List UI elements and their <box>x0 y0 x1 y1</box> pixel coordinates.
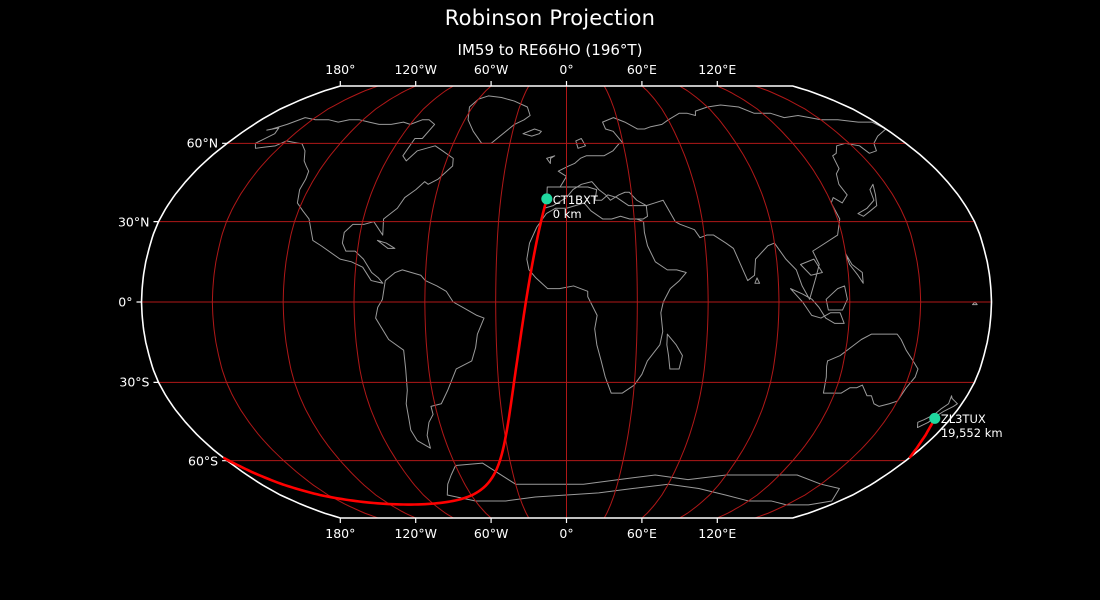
station-label-0: CT1BXT 0 km <box>553 193 598 221</box>
lat-tick-label-3: 30°S <box>119 375 149 390</box>
lon-tick-label-bottom-3: 0° <box>559 526 573 541</box>
station-callsign-1: ZL3TUX <box>941 412 986 426</box>
lon-tick-label-bottom-4: 60°E <box>627 526 657 541</box>
lon-tick-label-bottom-2: 60°W <box>474 526 509 541</box>
map-land-layer <box>255 96 977 505</box>
lat-tick-label-1: 30°N <box>118 214 150 229</box>
station-label-1: ZL3TUX 19,552 km <box>941 412 1003 440</box>
lon-tick-label-bottom-0: 180° <box>325 526 355 541</box>
lon-tick-label-top-3: 0° <box>559 62 573 77</box>
lon-tick-label-bottom-5: 120°E <box>698 526 736 541</box>
lat-tick-label-2: 0° <box>118 295 132 310</box>
lon-tick-label-top-2: 60°W <box>474 62 509 77</box>
station-distance-0: 0 km <box>553 207 598 221</box>
map-figure: Robinson Projection IM59 to RE66HO (196°… <box>0 0 1100 600</box>
lon-tick-label-top-0: 180° <box>325 62 355 77</box>
station-distance-1: 19,552 km <box>941 426 1003 440</box>
lon-tick-label-top-5: 120°E <box>698 62 736 77</box>
lon-tick-label-top-1: 120°W <box>394 62 436 77</box>
great-circle-path <box>224 199 935 505</box>
robinson-map-canvas <box>0 0 1100 600</box>
lat-tick-label-0: 60°N <box>187 136 219 151</box>
station-marker-1[interactable] <box>929 413 940 424</box>
lon-tick-label-bottom-1: 120°W <box>394 526 436 541</box>
station-markers <box>541 193 940 424</box>
station-marker-0[interactable] <box>541 193 552 204</box>
map-graticule-layer <box>142 86 992 518</box>
station-callsign-0: CT1BXT <box>553 193 598 207</box>
lon-tick-label-top-4: 60°E <box>627 62 657 77</box>
lat-tick-label-4: 60°S <box>188 453 218 468</box>
